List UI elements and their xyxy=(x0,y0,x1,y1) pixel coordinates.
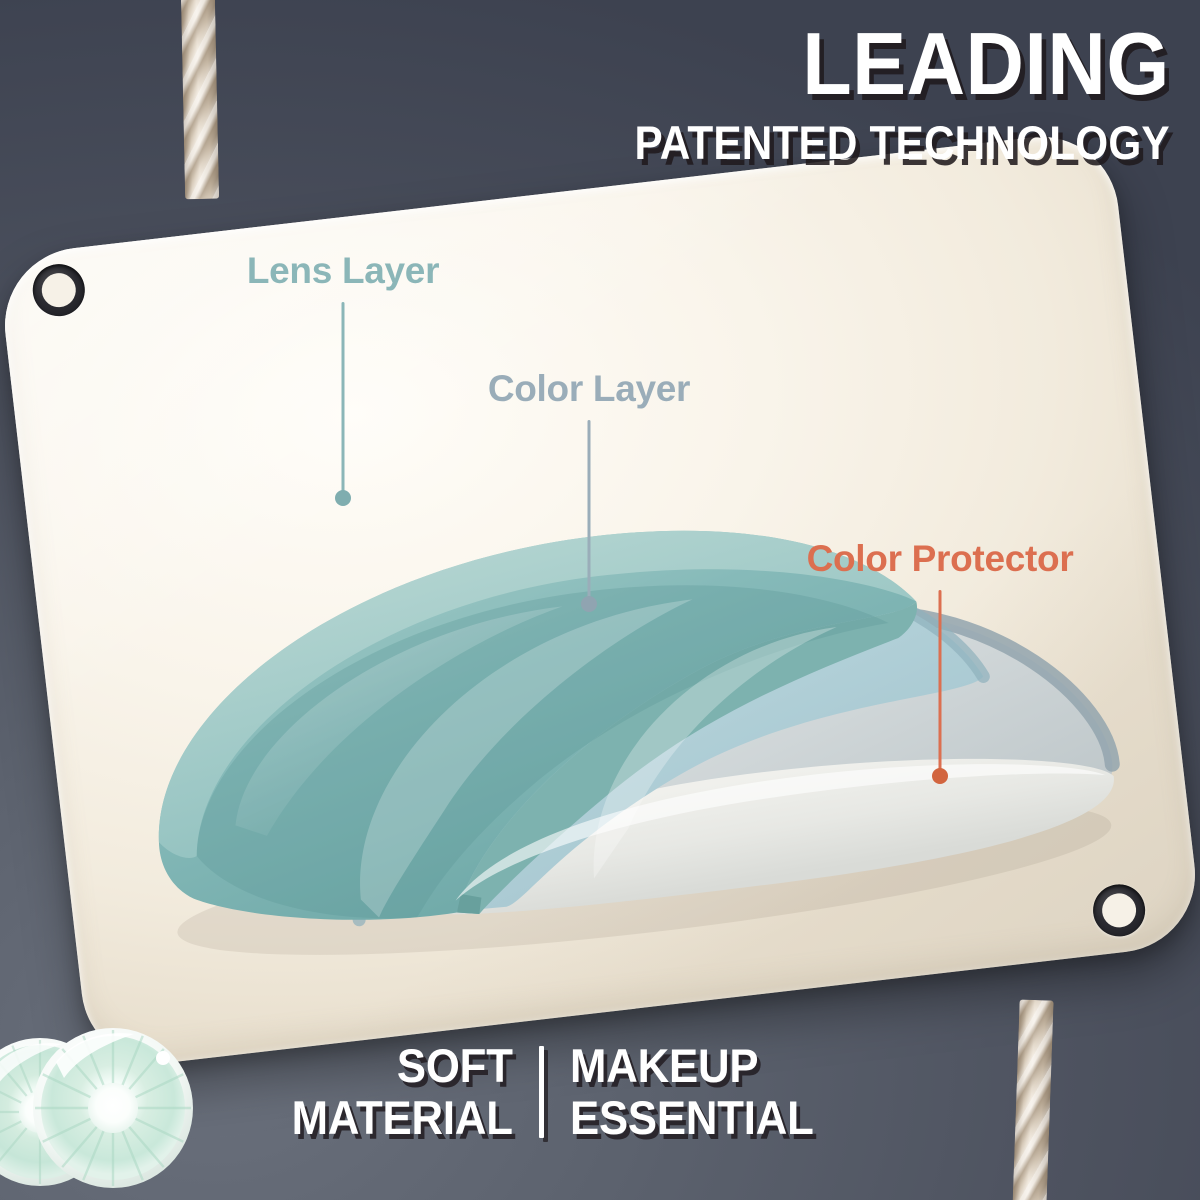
callout-endpoint-dot-lens-layer xyxy=(335,490,351,506)
hanging-rope-top xyxy=(181,0,219,199)
tagline-left-line-1: SOFT xyxy=(292,1040,513,1093)
callout-label-color-layer: Color Layer xyxy=(488,368,690,410)
hanging-rope-bottom xyxy=(1012,999,1053,1200)
headline-line-2: PATENTED TECHNOLOGY xyxy=(635,118,1170,167)
tagline-right-line-1: MAKEUP xyxy=(570,1040,814,1093)
product-card xyxy=(0,128,1200,1071)
headline-line-1: LEADING xyxy=(623,22,1170,106)
callout-label-color-protector: Color Protector xyxy=(807,538,1074,580)
tagline-left-line-2: MATERIAL xyxy=(292,1092,513,1145)
headline-block: LEADING PATENTED TECHNOLOGY xyxy=(575,22,1170,168)
contact-lens-pair xyxy=(0,1000,218,1200)
tagline-right-column: MAKEUP ESSENTIAL xyxy=(570,1040,814,1145)
callout-endpoint-dot-color-protector xyxy=(932,768,948,784)
callout-leader-line-lens-layer xyxy=(342,302,345,497)
callout-leader-line-color-layer xyxy=(588,420,591,603)
tagline-right-line-2: ESSENTIAL xyxy=(570,1092,814,1145)
callout-leader-line-color-protector xyxy=(939,590,942,775)
callout-label-lens-layer: Lens Layer xyxy=(247,250,439,292)
tagline-block: SOFT MATERIAL MAKEUP ESSENTIAL xyxy=(275,1040,832,1145)
callout-endpoint-dot-color-layer xyxy=(581,596,597,612)
infographic-canvas: Lens Layer Color Layer Color Protector L… xyxy=(0,0,1200,1200)
tagline-divider xyxy=(539,1046,544,1138)
tagline-left-column: SOFT MATERIAL xyxy=(292,1040,513,1145)
